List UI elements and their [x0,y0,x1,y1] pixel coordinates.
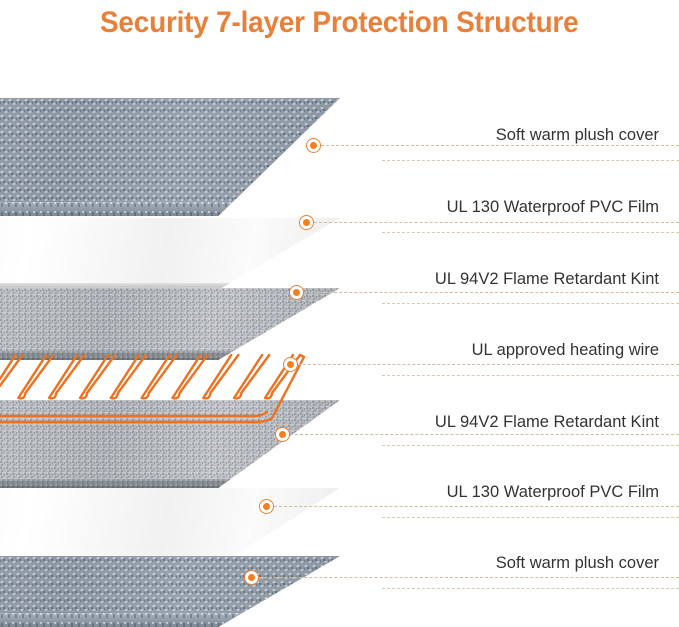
callout-label-layer-1: Soft warm plush cover [496,126,659,145]
callout-leader-line-6 [274,506,679,507]
callout-label-layer-5: UL 94V2 Flame Retardant Kint [435,413,659,432]
callout-dot-layer-2[interactable] [299,215,314,230]
callout-label-layer-3: UL 94V2 Flame Retardant Kint [435,270,659,289]
callout-dot-layer-3[interactable] [289,285,304,300]
callout-label-layer-4: UL approved heating wire [472,341,659,360]
callout-leader-line-5 [290,434,679,435]
callout-underline-2 [382,232,679,233]
callout-underline-6 [382,517,679,518]
callout-underline-1 [382,160,679,161]
callout-dot-layer-7[interactable] [244,570,259,585]
callout-leader-line-1 [321,145,679,146]
callout-label-layer-7: Soft warm plush cover [496,554,659,573]
callout-label-layer-6: UL 130 Waterproof PVC Film [447,483,659,502]
callout-underline-4 [382,375,679,376]
callout-underline-3 [382,303,679,304]
callout-dot-layer-1[interactable] [306,138,321,153]
callout-dot-layer-6[interactable] [259,499,274,514]
callout-leader-line-3 [304,292,679,293]
callout-label-layer-2: UL 130 Waterproof PVC Film [447,198,659,217]
callout-underline-7 [382,588,679,589]
callout-dot-layer-5[interactable] [275,427,290,442]
callout-underline-5 [382,445,679,446]
callout-leader-line-2 [314,222,679,223]
callout-group: Soft warm plush coverUL 130 Waterproof P… [0,0,679,627]
callout-leader-line-7 [259,577,679,578]
callout-dot-layer-4[interactable] [283,357,298,372]
callout-leader-line-4 [298,364,679,365]
